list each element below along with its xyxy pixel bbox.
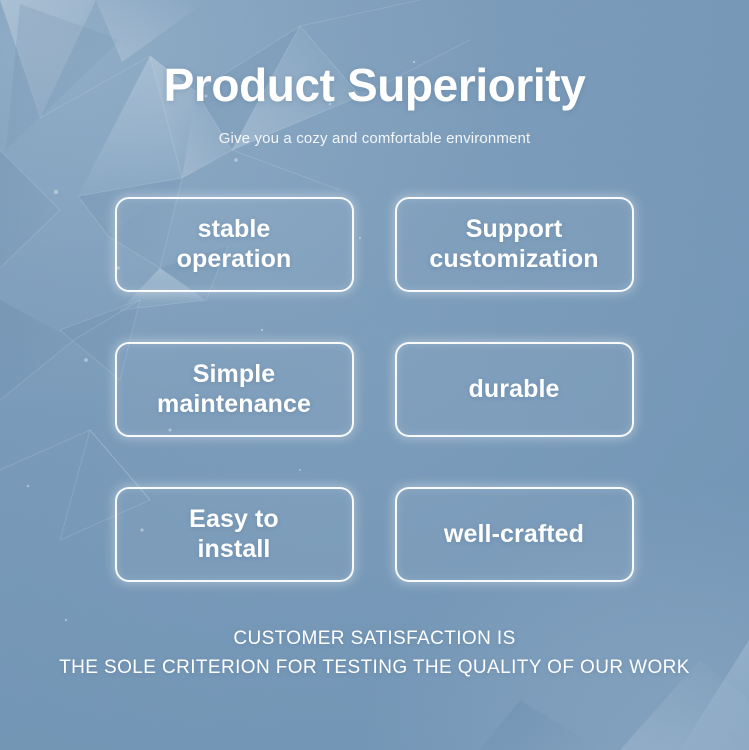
poster-footer: CUSTOMER SATISFACTION IS THE SOLE CRITER… bbox=[0, 624, 749, 683]
feature-card-grid: stable operation Support customization S… bbox=[115, 197, 635, 582]
feature-card-durable[interactable]: durable bbox=[395, 342, 634, 437]
feature-card-well-crafted[interactable]: well-crafted bbox=[395, 487, 634, 582]
footer-line-2: THE SOLE CRITERION FOR TESTING THE QUALI… bbox=[0, 653, 749, 682]
feature-card-label: durable bbox=[461, 374, 568, 405]
feature-card-support-customization[interactable]: Support customization bbox=[395, 197, 634, 292]
poster-content: Product Superiority Give you a cozy and … bbox=[0, 0, 749, 750]
feature-card-easy-to-install[interactable]: Easy to install bbox=[115, 487, 354, 582]
poster-header: Product Superiority Give you a cozy and … bbox=[0, 0, 749, 147]
feature-card-label: Simple maintenance bbox=[149, 359, 319, 420]
page-title: Product Superiority bbox=[0, 60, 749, 112]
feature-card-label: Easy to install bbox=[181, 504, 287, 565]
feature-card-label: well-crafted bbox=[436, 519, 592, 550]
feature-card-stable-operation[interactable]: stable operation bbox=[115, 197, 354, 292]
footer-line-1: CUSTOMER SATISFACTION IS bbox=[0, 624, 749, 653]
feature-card-simple-maintenance[interactable]: Simple maintenance bbox=[115, 342, 354, 437]
page-subtitle: Give you a cozy and comfortable environm… bbox=[0, 130, 749, 147]
feature-card-label: Support customization bbox=[421, 214, 606, 275]
feature-card-label: stable operation bbox=[169, 214, 300, 275]
poster-canvas: Product Superiority Give you a cozy and … bbox=[0, 0, 749, 750]
